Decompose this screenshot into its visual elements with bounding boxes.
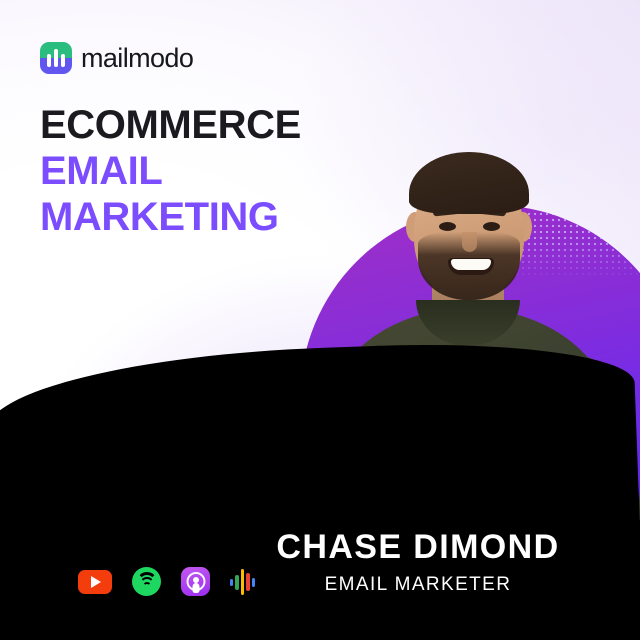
- speaker-info: CHASE DIMOND EMAIL MARKETER: [230, 527, 606, 598]
- mailmodo-bars-icon: [40, 42, 72, 74]
- platform-icons: [78, 567, 256, 596]
- brand-name: mailmodo: [81, 45, 193, 72]
- podcast-promo-poster: mailmodo ECOMMERCE EMAIL MARKETING CHASE…: [0, 0, 640, 640]
- google-podcasts-icon[interactable]: [230, 568, 256, 596]
- photo-teeth: [451, 259, 491, 270]
- spotify-icon[interactable]: [132, 567, 161, 596]
- page-title: ECOMMERCE EMAIL MARKETING: [40, 102, 301, 240]
- mailmodo-logo[interactable]: mailmodo: [40, 42, 193, 74]
- photo-nose: [462, 232, 477, 252]
- logo-bar-1: [47, 54, 51, 67]
- google-bar-2: [235, 575, 238, 590]
- youtube-icon[interactable]: [78, 570, 112, 594]
- speaker-name: CHASE DIMOND: [230, 527, 606, 567]
- logo-bar-2: [54, 49, 58, 67]
- apple-podcasts-stem: [192, 583, 199, 593]
- speaker-role: EMAIL MARKETER: [230, 572, 606, 598]
- headline-line-2: EMAIL: [40, 148, 301, 194]
- spotify-wave-3: [142, 582, 151, 591]
- headline-line-1: ECOMMERCE: [40, 102, 301, 148]
- photo-eye-left: [439, 222, 456, 231]
- google-bar-4: [246, 573, 249, 591]
- logo-bar-3: [61, 54, 65, 67]
- google-bar-1: [230, 579, 233, 586]
- photo-eye-right: [483, 222, 500, 231]
- google-bar-5: [252, 578, 255, 587]
- photo-hair: [409, 152, 529, 214]
- apple-podcasts-icon[interactable]: [181, 567, 210, 596]
- headline-line-3: MARKETING: [40, 194, 301, 240]
- google-bar-3: [241, 569, 244, 595]
